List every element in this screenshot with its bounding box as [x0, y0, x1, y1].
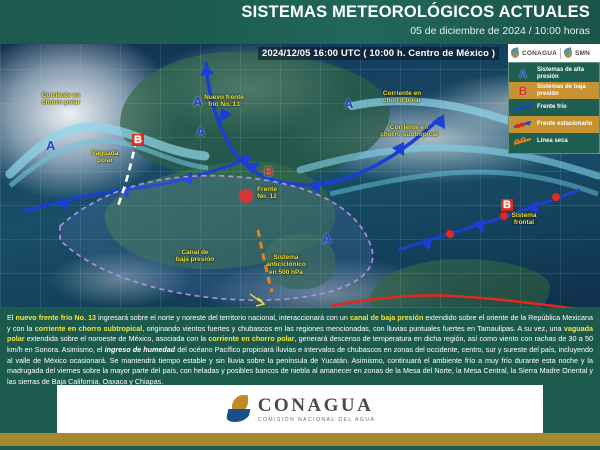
- forecast-paragraph: El nuevo frente frío No. 13 ingresará so…: [7, 313, 593, 388]
- footer-gold-bar: [0, 433, 600, 446]
- atlantic-front-barbs: [420, 201, 538, 251]
- footer-logo-area: CONAGUA COMISIÓN NACIONAL DEL AGUA: [57, 385, 543, 433]
- conagua-name: CONAGUA: [258, 396, 376, 415]
- legend-item-frente-frio[interactable]: Frente frío: [509, 99, 599, 116]
- page-header: SISTEMAS METEOROLÓGICOS ACTUALES 05 de d…: [0, 0, 600, 44]
- low-pressure-icon: B: [512, 83, 534, 98]
- legend-item-sistemas-baja-presion[interactable]: B Sistemas de baja presión: [509, 82, 599, 99]
- page-footer: CONAGUA COMISIÓN NACIONAL DEL AGUA: [0, 385, 600, 450]
- satellite-map[interactable]: 2024/12/05 16:00 UTC ( 10:00 h. Centro d…: [0, 44, 600, 308]
- marker-baja-presion-frente12: B: [264, 164, 273, 179]
- conagua-emblem-icon: [225, 394, 251, 424]
- marker-baja-presion-atlantico: B: [501, 199, 513, 211]
- high-pressure-icon: A: [512, 66, 534, 81]
- legend-label-linea-seca: Línea seca: [537, 138, 568, 145]
- conagua-wordmark: CONAGUA COMISIÓN NACIONAL DEL AGUA: [258, 396, 376, 423]
- legend-label-baja-presion: Sistemas de baja presión: [537, 84, 596, 98]
- marker-alta-presion-caribe: A: [322, 231, 331, 246]
- smn-logo-text: SMN: [575, 50, 590, 57]
- agency-logo-strip: CONAGUA SMN: [508, 44, 600, 62]
- legend-label-alta-presion: Sistemas de alta presión: [537, 67, 596, 81]
- legend-label-frente-estacionario: Frente estacionario: [537, 121, 592, 128]
- polar-jet-stream-west: [10, 127, 205, 174]
- conagua-logo-text: CONAGUA: [522, 50, 557, 57]
- legend-symbol-A: A: [519, 67, 528, 81]
- marker-alta-presion-noroeste: A: [46, 138, 55, 153]
- cold-front-icon: [512, 100, 534, 115]
- map-timestamp: 2024/12/05 16:00 UTC ( 10:00 h. Centro d…: [258, 47, 499, 60]
- legend-item-sistemas-alta-presion[interactable]: A Sistemas de alta presión: [509, 65, 599, 82]
- legend-symbol-B: B: [519, 84, 528, 98]
- marker-alta-presion-centro-norte: A: [193, 94, 202, 109]
- conagua-tagline: COMISIÓN NACIONAL DEL AGUA: [258, 417, 376, 423]
- marker-alta-presion-continental: A: [196, 124, 205, 139]
- dry-line-icon: [512, 134, 534, 149]
- footer-green-bar: [0, 446, 600, 450]
- logo-divider: [560, 48, 561, 59]
- stationary-front-icon: [512, 117, 534, 132]
- subtropical-jet-stream-south: [330, 172, 598, 194]
- cold-front-13-barbs: [200, 64, 445, 194]
- water-drop-icon: [510, 47, 520, 58]
- marker-alta-presion-este: A: [344, 96, 353, 111]
- forecast-summary-block: El nuevo frente frío No. 13 ingresará so…: [0, 308, 600, 385]
- emblem-wave-shape: [225, 409, 250, 422]
- smn-emblem-icon: [563, 47, 573, 58]
- legend-label-frente-frio: Frente frío: [537, 104, 567, 111]
- map-legend: A Sistemas de alta presión B Sistemas de…: [508, 62, 600, 154]
- page-title: SISTEMAS METEOROLÓGICOS ACTUALES: [241, 3, 590, 22]
- marker-baja-presion-noroeste: B: [132, 134, 144, 146]
- legend-item-frente-estacionario[interactable]: Frente estacionario: [509, 116, 599, 133]
- weather-bulletin-page: SISTEMAS METEOROLÓGICOS ACTUALES 05 de d…: [0, 0, 600, 450]
- vaguada-monzonica-line: [332, 295, 600, 308]
- legend-item-linea-seca[interactable]: Línea seca: [509, 133, 599, 150]
- page-date-time: 05 de diciembre de 2024 / 10:00 horas: [410, 25, 590, 37]
